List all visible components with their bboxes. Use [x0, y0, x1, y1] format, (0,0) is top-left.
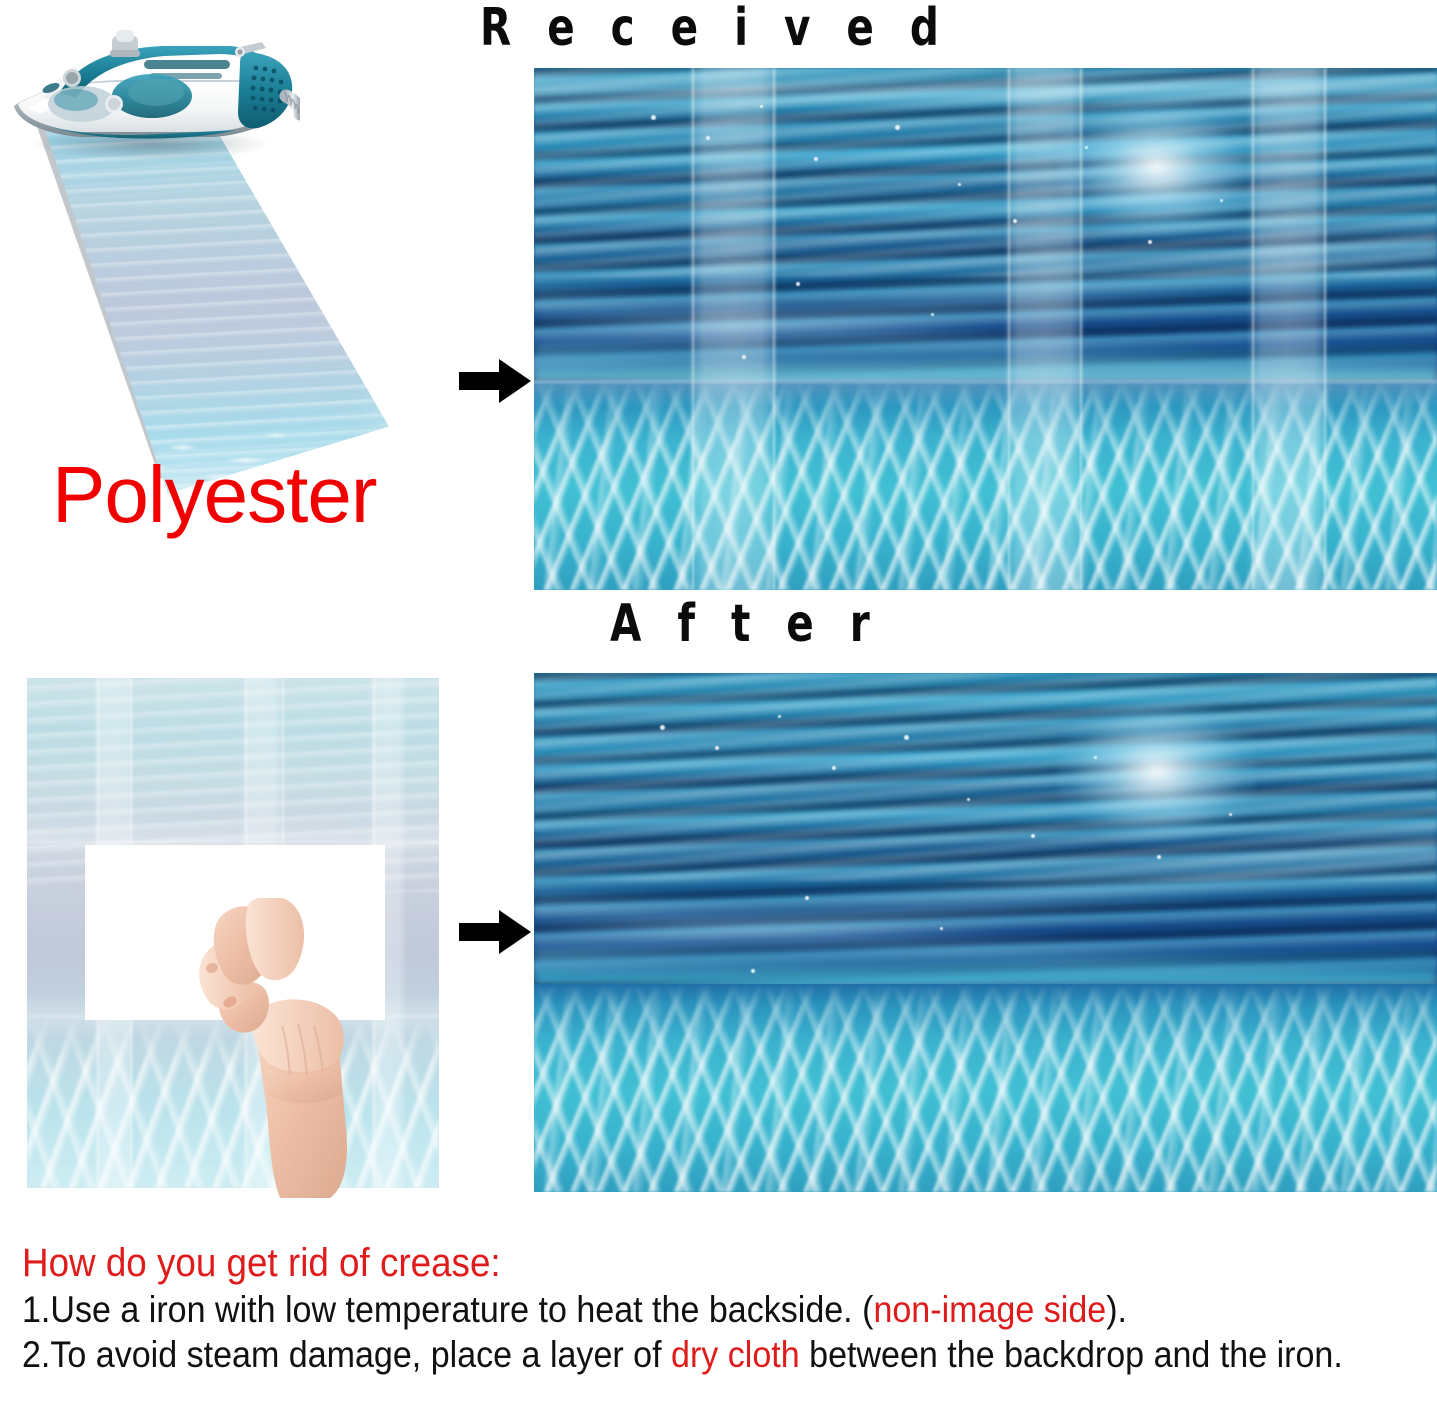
instruction-1-part-2-highlight: non-image side [873, 1289, 1106, 1330]
instruction-2-part-3: between the backdrop and the iron. [800, 1334, 1343, 1375]
received-backdrop-photo [534, 68, 1437, 590]
instruction-1-index: 1. [22, 1289, 50, 1330]
instruction-1-part-3: ). [1106, 1289, 1127, 1330]
steam-iron-icon [0, 0, 300, 175]
right-arrow-icon-2 [459, 908, 531, 956]
after-backdrop-photo [534, 673, 1437, 1192]
received-heading: R e c e i v e d [480, 2, 950, 54]
after-heading: A f t e r [610, 598, 881, 650]
hand-icon [196, 898, 376, 1198]
instruction-1-part-1: Use a iron with low temperature to heat … [50, 1289, 873, 1330]
instruction-2-part-2-highlight: dry cloth [671, 1334, 800, 1375]
instruction-line-1: 1.Use a iron with low temperature to hea… [22, 1287, 1319, 1332]
instruction-2-index: 2. [22, 1334, 50, 1375]
instructions-title: How do you get rid of crease: [22, 1240, 1319, 1287]
instructions-block: How do you get rid of crease: 1.Use a ir… [22, 1240, 1432, 1377]
bubbles-layer [534, 68, 1437, 590]
polyester-material-label: Polyester [52, 455, 376, 535]
instruction-line-2: 2.To avoid steam damage, place a layer o… [22, 1332, 1319, 1377]
right-arrow-icon [459, 357, 531, 405]
bubbles-layer-after [534, 673, 1437, 1192]
instruction-2-part-1: To avoid steam damage, place a layer of [50, 1334, 671, 1375]
